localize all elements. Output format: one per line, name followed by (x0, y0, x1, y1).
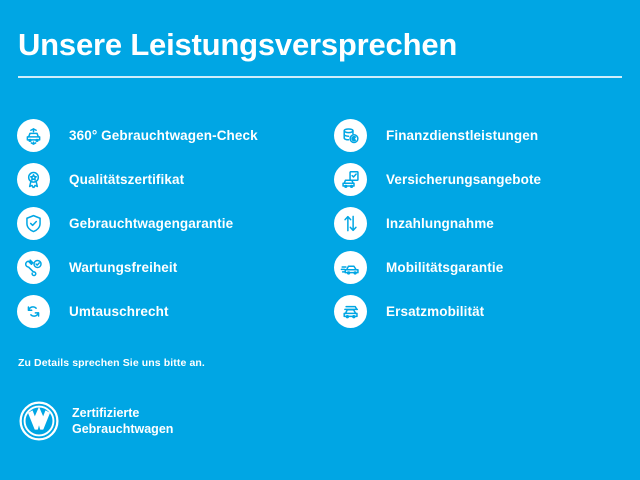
benefit-label: Finanzdienstleistungen (386, 128, 538, 143)
benefit-item-quality-certificate: Qualitätszertifikat (17, 157, 317, 201)
benefit-item-used-car-warranty: Gebrauchtwagengarantie (17, 201, 317, 245)
shield-check-icon (17, 207, 50, 240)
car-document-icon (334, 163, 367, 196)
benefit-label: Mobilitätsgarantie (386, 260, 503, 275)
volkswagen-logo-icon (18, 400, 60, 442)
brand-line-2: Gebrauchtwagen (72, 422, 173, 436)
benefit-label: Inzahlungnahme (386, 216, 494, 231)
benefit-item-mobility-guarantee: Mobilitätsgarantie (334, 245, 634, 289)
benefit-label: Qualitätszertifikat (69, 172, 184, 187)
two-cars-icon (334, 295, 367, 328)
benefit-item-360-check: 360° Gebrauchtwagen-Check (17, 113, 317, 157)
benefit-item-financial-services: Finanzdienstleistungen (334, 113, 634, 157)
benefits-column-left: 360° Gebrauchtwagen-Check Qualitätszerti… (17, 113, 317, 333)
car-motion-icon (334, 251, 367, 284)
wrench-check-icon (17, 251, 50, 284)
page-title: Unsere Leistungsversprechen (18, 26, 457, 64)
award-rosette-icon (17, 163, 50, 196)
title-divider (18, 76, 622, 78)
brand-text: Zertifizierte Gebrauchtwagen (72, 405, 173, 437)
benefit-label: Gebrauchtwagengarantie (69, 216, 233, 231)
footnote-text: Zu Details sprechen Sie uns bitte an. (18, 357, 205, 369)
benefits-column-right: Finanzdienstleistungen Versicherungsange… (334, 113, 634, 333)
benefit-label: Versicherungsangebote (386, 172, 541, 187)
car-inspection-icon (17, 119, 50, 152)
exchange-arrows-icon (17, 295, 50, 328)
benefit-item-maintenance-free: Wartungsfreiheit (17, 245, 317, 289)
benefit-label: Ersatzmobilität (386, 304, 484, 319)
certified-used-cars-slide: Unsere Leistungsversprechen (0, 0, 640, 480)
benefit-label: Wartungsfreiheit (69, 260, 177, 275)
coins-euro-icon (334, 119, 367, 152)
benefit-item-right-of-exchange: Umtauschrecht (17, 289, 317, 333)
brand-line-1: Zertifizierte (72, 406, 139, 420)
benefit-item-replacement-mobility: Ersatzmobilität (334, 289, 634, 333)
up-down-arrows-icon (334, 207, 367, 240)
benefit-label: 360° Gebrauchtwagen-Check (69, 128, 258, 143)
benefit-label: Umtauschrecht (69, 304, 169, 319)
benefit-item-trade-in: Inzahlungnahme (334, 201, 634, 245)
brand-lockup: Zertifizierte Gebrauchtwagen (18, 400, 173, 442)
benefit-item-insurance-offers: Versicherungsangebote (334, 157, 634, 201)
